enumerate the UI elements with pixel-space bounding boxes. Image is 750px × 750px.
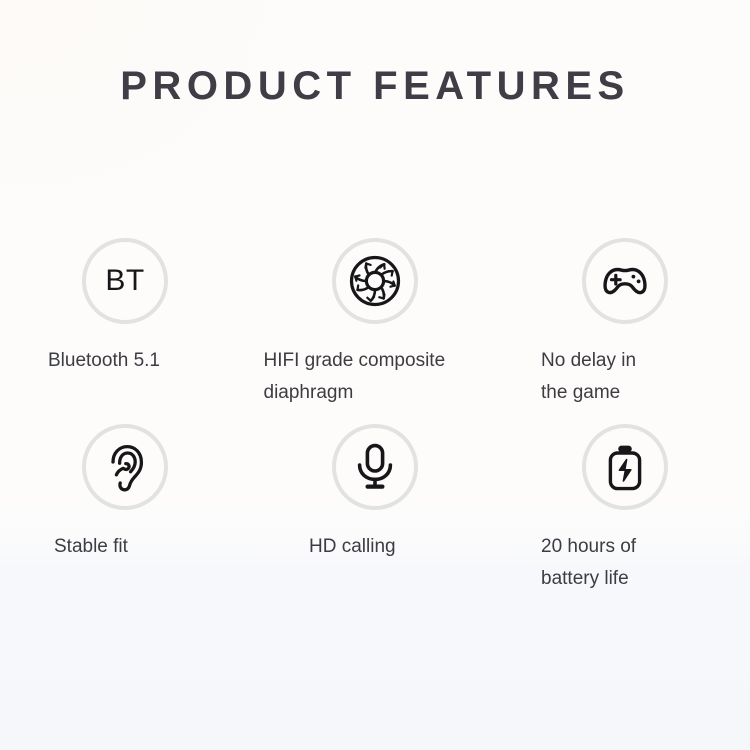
- features-grid: BT Bluetooth 5.1: [0, 238, 750, 595]
- feature-item-game: No delay in the game: [500, 238, 750, 409]
- battery-charging-icon: [600, 442, 650, 492]
- feature-caption: 20 hours of battery life: [541, 531, 691, 595]
- page-title: PRODUCT FEATURES: [0, 64, 750, 109]
- feature-caption: HIFI grade composite diaphragm: [264, 345, 479, 409]
- features-row: Stable fit HD calling: [0, 424, 750, 595]
- feature-icon-badge: [582, 238, 668, 324]
- feature-item-calling: HD calling: [250, 424, 500, 595]
- feature-item-diaphragm: HIFI grade composite diaphragm: [250, 238, 500, 409]
- feature-caption: Stable fit: [36, 531, 214, 563]
- bt-text-icon: BT: [105, 266, 144, 296]
- gamepad-icon: [597, 253, 653, 309]
- feature-icon-badge: [582, 424, 668, 510]
- caption-line: Stable fit: [54, 531, 214, 563]
- caption-line: diaphragm: [264, 377, 479, 409]
- caption-line: Bluetooth 5.1: [48, 345, 208, 377]
- features-row: BT Bluetooth 5.1: [0, 238, 750, 409]
- caption-line: No delay in: [541, 345, 691, 377]
- caption-line: 20 hours of: [541, 531, 691, 563]
- caption-line: HIFI grade composite: [264, 345, 479, 377]
- caption-line: the game: [541, 377, 691, 409]
- feature-item-battery: 20 hours of battery life: [500, 424, 750, 595]
- caption-line: battery life: [541, 563, 691, 595]
- product-features-poster: PRODUCT FEATURES BT Bluetooth 5.1: [0, 0, 750, 750]
- feature-caption: Bluetooth 5.1: [42, 345, 208, 377]
- diaphragm-aperture-icon: [347, 253, 403, 309]
- feature-icon-badge: [332, 424, 418, 510]
- microphone-icon: [349, 441, 401, 493]
- ear-icon: [99, 441, 151, 493]
- feature-item-bluetooth: BT Bluetooth 5.1: [0, 238, 250, 409]
- feature-item-fit: Stable fit: [0, 424, 250, 595]
- caption-line: HD calling: [309, 531, 469, 563]
- feature-caption: No delay in the game: [541, 345, 691, 409]
- feature-icon-badge: BT: [82, 238, 168, 324]
- feature-caption: HD calling: [281, 531, 469, 563]
- feature-icon-badge: [332, 238, 418, 324]
- feature-icon-badge: [82, 424, 168, 510]
